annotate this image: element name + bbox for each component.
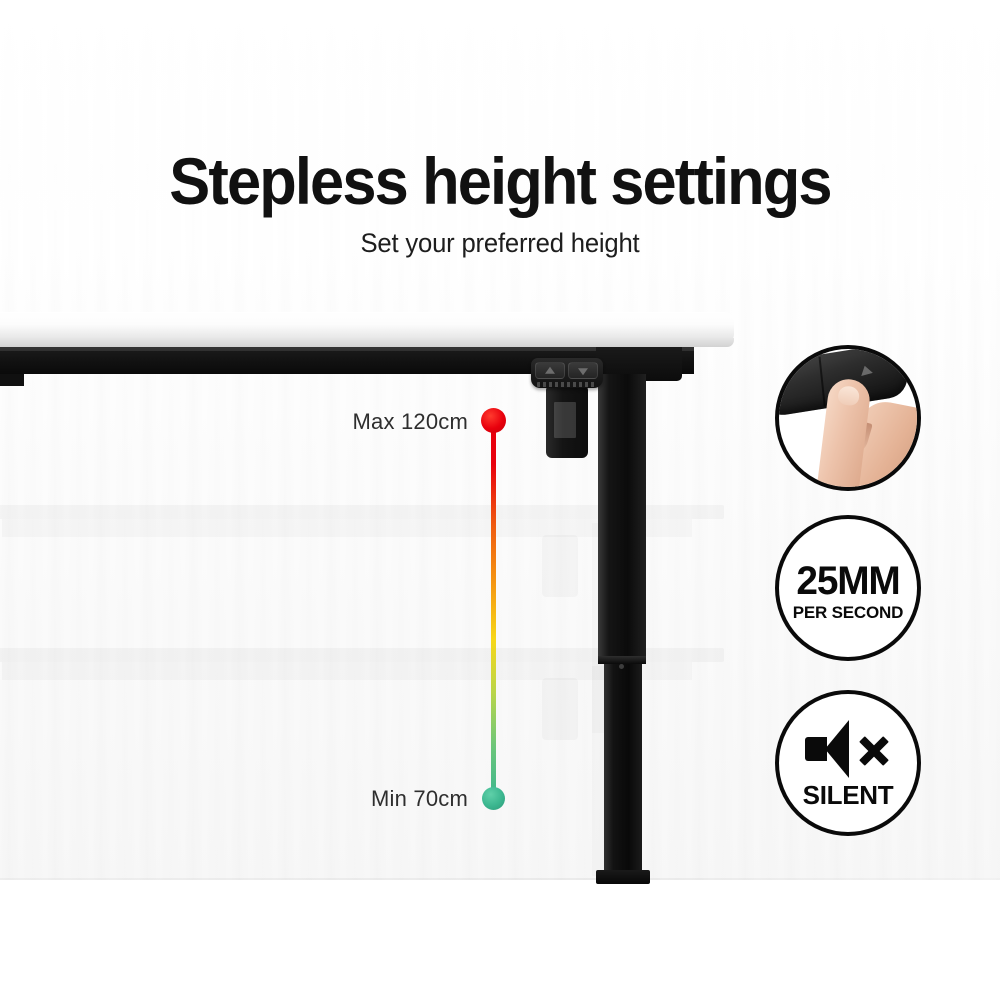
floor [0, 880, 1000, 1000]
page-title: Stepless height settings [35, 148, 965, 214]
ghost-motor [542, 678, 578, 740]
product-infographic: Stepless height settings Set your prefer… [0, 0, 1000, 1000]
desk-leg-foot [596, 870, 650, 884]
keypad-vent [537, 382, 597, 387]
ghost-motor [542, 535, 578, 597]
headline-block: Stepless height settings Set your prefer… [0, 148, 1000, 259]
speaker-body [805, 737, 827, 761]
page-subtitle: Set your preferred height [25, 228, 975, 259]
badge-silent: SILENT [775, 690, 921, 836]
arrow-down-icon [578, 368, 588, 375]
keypad-up-button[interactable] [535, 362, 565, 379]
desk-frame-rail-highlight [0, 347, 694, 351]
speed-value: 25MM [781, 559, 915, 604]
desktop-edge [0, 338, 734, 347]
ghost-frame-rail [2, 662, 692, 680]
badge-speed: 25MM PER SECOND [775, 515, 921, 661]
speaker-cone [825, 720, 849, 778]
min-height-label: Min 70cm [240, 786, 468, 812]
muted-speaker-icon [805, 720, 897, 776]
badge-press-control [775, 345, 921, 491]
leg-screw-icon [619, 664, 624, 669]
handset-seam [819, 357, 826, 407]
speaker-mute-x-icon [857, 734, 891, 768]
speed-unit: PER SECOND [779, 603, 917, 623]
arrow-up-icon [545, 366, 555, 373]
desk-leg-joint [598, 656, 646, 664]
desk-leg-upper-column [598, 374, 646, 664]
desk-frame-left-end [0, 374, 24, 386]
max-height-marker [481, 408, 506, 433]
motor-spec-label [554, 402, 576, 438]
keypad-down-button[interactable] [568, 362, 598, 379]
max-height-label: Max 120cm [240, 409, 468, 435]
ghost-frame-rail [2, 519, 692, 537]
fingernail [837, 385, 860, 406]
height-controller-keypad[interactable] [531, 358, 603, 388]
silent-label: SILENT [779, 780, 917, 811]
handset-arrow-icon [859, 364, 873, 376]
height-gradient-line [491, 418, 496, 800]
min-height-marker [482, 787, 505, 810]
lift-motor-housing [546, 386, 588, 458]
desk-leg-lower-column [604, 660, 642, 882]
